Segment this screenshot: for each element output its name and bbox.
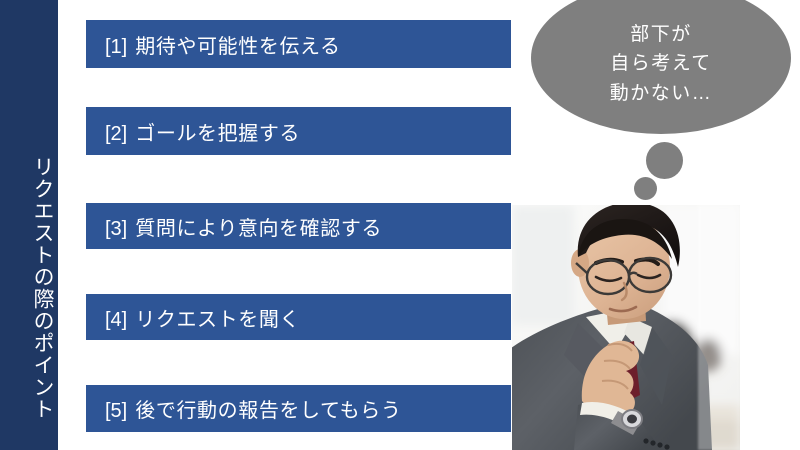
point-bar-3: [3]質問により意向を確認する	[86, 203, 511, 249]
point-bar-2-text: ゴールを把握する	[135, 123, 300, 145]
photo-illustration	[512, 205, 740, 450]
point-bar-4: [4]リクエストを聞く	[86, 294, 511, 340]
point-bar-5-text: 後で行動の報告をしてもらう	[135, 400, 401, 422]
sidebar-title-wrapper: リクエストの際のポイント	[0, 48, 58, 438]
point-bar-1-number: [1]	[105, 36, 127, 58]
point-bar-2-label: [2]ゴールを把握する	[105, 117, 300, 146]
point-bar-2: [2]ゴールを把握する	[86, 107, 511, 155]
slide-vertical-title: リクエストの際のポイント	[0, 98, 58, 450]
point-bar-4-label: [4]リクエストを聞く	[105, 303, 300, 332]
point-bar-2-number: [2]	[105, 123, 127, 145]
point-bar-4-text: リクエストを聞く	[135, 309, 300, 331]
thinking-businessman-photo	[512, 205, 740, 450]
point-bar-5-number: [5]	[105, 400, 127, 422]
point-bar-3-label: [3]質問により意向を確認する	[105, 212, 382, 241]
thought-bubble-dot-small	[634, 177, 657, 200]
point-bar-1-text: 期待や可能性を伝える	[135, 36, 340, 58]
photo-edge-fade	[698, 205, 740, 450]
point-bar-3-text: 質問により意向を確認する	[135, 218, 382, 240]
thought-bubble-dot-large	[646, 142, 683, 179]
point-bar-5-label: [5]後で行動の報告をしてもらう	[105, 394, 401, 423]
point-bar-1: [1]期待や可能性を伝える	[86, 20, 511, 68]
point-bar-3-number: [3]	[105, 218, 127, 240]
point-bar-4-number: [4]	[105, 309, 127, 331]
thought-bubble-text: 部下が 自ら考えて 動かない…	[531, 20, 791, 108]
point-bar-5: [5]後で行動の報告をしてもらう	[86, 385, 511, 432]
point-bar-1-label: [1]期待や可能性を伝える	[105, 30, 341, 59]
slide-canvas: リクエストの際のポイント [1]期待や可能性を伝える [2]ゴールを把握する […	[0, 0, 800, 450]
